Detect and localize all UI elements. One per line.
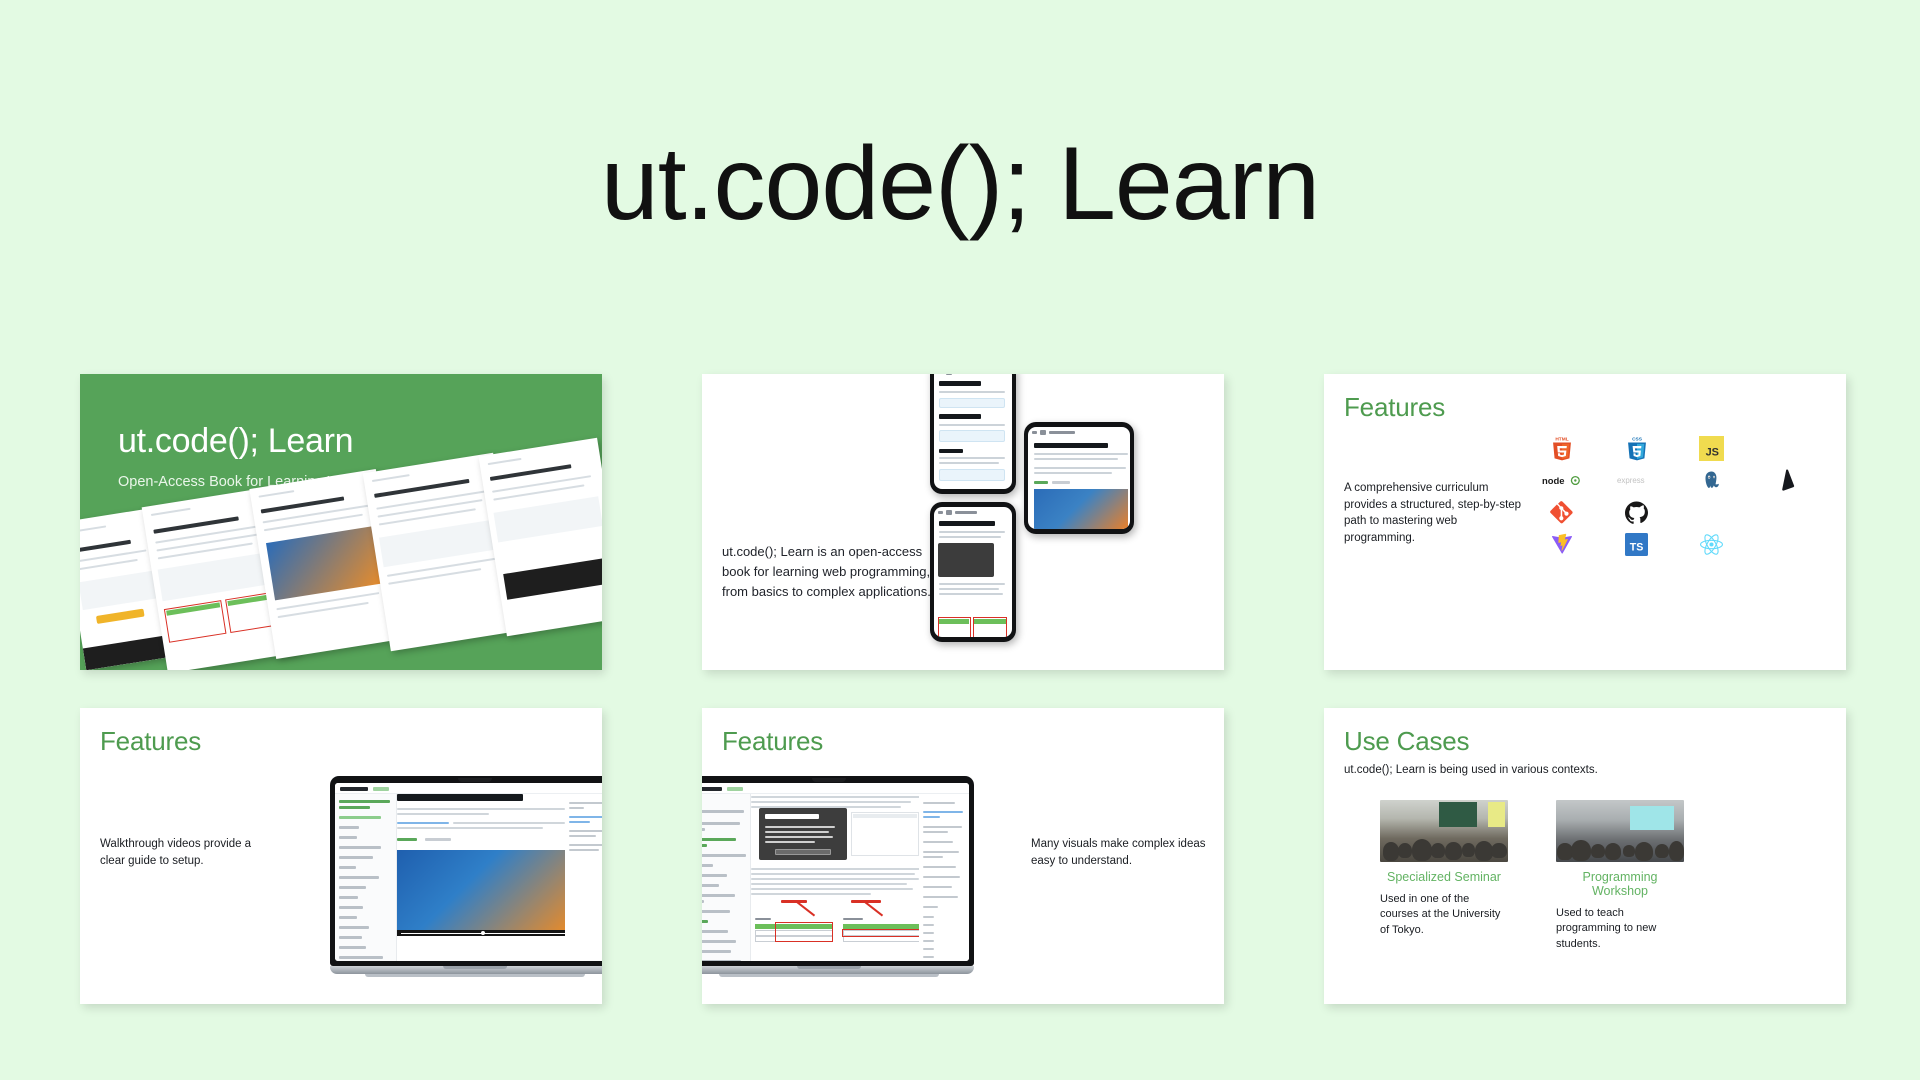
- workshop-room-photo: [1556, 800, 1684, 862]
- slide-intro[interactable]: ut.code(); Learn is an open-access book …: [702, 374, 1224, 670]
- react-logo: [1692, 529, 1732, 559]
- phone-modal: [938, 543, 994, 577]
- logo-empty-slot-2: [1692, 497, 1732, 527]
- use-cases-heading: Use Cases: [1344, 726, 1469, 757]
- lecture-hall-photo: [1380, 800, 1508, 862]
- nodejs-logo: node: [1542, 465, 1582, 495]
- device-phone-bottom: [930, 502, 1016, 642]
- logo-empty-slot-4: [1767, 529, 1807, 559]
- use-case-title-workshop: Programming Workshop: [1556, 870, 1684, 898]
- slide-features-curriculum[interactable]: Features A comprehensive curriculum prov…: [1324, 374, 1846, 670]
- app-topbar: [335, 783, 602, 794]
- prisma-logo: [1767, 465, 1807, 495]
- use-case-title-seminar: Specialized Seminar: [1380, 870, 1508, 884]
- css3-logo: CSS: [1617, 433, 1657, 463]
- laptop-ui-videos: [335, 783, 602, 961]
- video-player[interactable]: [397, 850, 569, 936]
- use-cases-lead: ut.code(); Learn is being used in variou…: [1344, 764, 1598, 776]
- doc-thumb-3: [249, 469, 402, 659]
- logo-empty-slot-1: [1767, 433, 1807, 463]
- phone-top-screen: [934, 374, 1012, 489]
- svg-text:express: express: [1617, 476, 1645, 485]
- tech-logo-grid: HTML CSS JS: [1524, 432, 1824, 560]
- cover-document-collage: [80, 374, 602, 670]
- phone-bottom-screen: [934, 507, 1012, 637]
- app-content-visuals: [751, 794, 919, 961]
- svg-text:HTML: HTML: [1555, 436, 1568, 442]
- laptop-ui-visuals: [702, 783, 969, 961]
- page-title: ut.code(); Learn: [0, 130, 1920, 239]
- features-visuals-body: Many visuals make complex ideas easy to …: [1031, 836, 1206, 869]
- postgresql-logo: [1692, 465, 1732, 495]
- tablet-appbar: [1032, 430, 1126, 435]
- doc-thumb-5: [479, 438, 602, 637]
- crowd-silhouettes: [1380, 826, 1508, 862]
- use-cases-list: Specialized Seminar Used in one of the c…: [1380, 800, 1684, 952]
- express-logo: express: [1617, 465, 1657, 495]
- laptop-screen-visuals: [702, 776, 974, 966]
- github-logo: [1617, 497, 1657, 527]
- slide-use-cases[interactable]: Use Cases ut.code(); Learn is being used…: [1324, 708, 1846, 1004]
- logo-empty-slot-3: [1767, 497, 1807, 527]
- use-case-desc-seminar: Used in one of the courses at the Univer…: [1380, 892, 1508, 938]
- laptop-base: [330, 966, 602, 974]
- app-sidebar-2: [702, 794, 751, 961]
- phone-top-appbar: [938, 374, 1008, 375]
- features-videos-body: Walkthrough videos provide a clear guide…: [100, 836, 275, 869]
- svg-text:JS: JS: [1706, 446, 1719, 458]
- svg-text:CSS: CSS: [1632, 436, 1643, 442]
- laptop-foot-2: [719, 974, 939, 977]
- use-case-desc-workshop: Used to teach programming to new student…: [1556, 906, 1684, 952]
- laptop-base-2: [702, 966, 974, 974]
- annotation-line-2: [864, 901, 882, 916]
- vite-logo: [1542, 529, 1582, 559]
- app-toc-2: [919, 794, 969, 961]
- app-content-videos: [397, 794, 565, 961]
- features-visuals-heading: Features: [722, 726, 823, 757]
- laptop-screen-videos: [330, 776, 602, 966]
- diagram-modal: [759, 808, 847, 860]
- app-topbar-2: [702, 783, 969, 794]
- intro-body: ut.code(); Learn is an open-access book …: [722, 542, 932, 602]
- features-curriculum-body: A comprehensive curriculum provides a st…: [1344, 480, 1522, 547]
- device-phone-top: [930, 374, 1016, 494]
- app-sidebar: [335, 794, 397, 961]
- slide-cover[interactable]: ut.code(); Learn Open-Access Book for Le…: [80, 374, 602, 670]
- slide-deck: ut.code(); Learn Open-Access Book for Le…: [80, 374, 1846, 1004]
- features-videos-heading: Features: [100, 726, 201, 757]
- device-tablet: [1024, 422, 1134, 534]
- use-case-item-workshop: Programming Workshop Used to teach progr…: [1556, 800, 1684, 952]
- doc-thumb-2: [142, 487, 299, 670]
- annotation-line-1: [796, 901, 814, 916]
- git-logo: [1542, 497, 1582, 527]
- laptop-foot: [365, 974, 585, 977]
- doc-thumb-1: [80, 508, 177, 670]
- laptop-mockup-visuals: [702, 776, 974, 977]
- svg-text:TS: TS: [1630, 541, 1644, 553]
- slide-features-videos[interactable]: Features Walkthrough videos provide a cl…: [80, 708, 602, 1004]
- svg-text:node: node: [1542, 475, 1565, 486]
- app-toc: [565, 794, 602, 961]
- crowd-silhouettes-2: [1556, 826, 1684, 862]
- cover-title: ut.code(); Learn: [118, 422, 353, 461]
- javascript-logo: JS: [1692, 433, 1732, 463]
- laptop-mockup-videos: [330, 776, 602, 977]
- html5-logo: HTML: [1542, 433, 1582, 463]
- cover-subtitle: Open-Access Book for Learning Web Progra…: [118, 474, 448, 490]
- typescript-logo: TS: [1617, 529, 1657, 559]
- tablet-screen: [1028, 427, 1130, 529]
- phone-bottom-appbar: [938, 510, 1008, 515]
- slide-features-visuals[interactable]: Features Many visuals make complex ideas…: [702, 708, 1224, 1004]
- features-curriculum-heading: Features: [1344, 392, 1445, 423]
- use-case-item-seminar: Specialized Seminar Used in one of the c…: [1380, 800, 1508, 952]
